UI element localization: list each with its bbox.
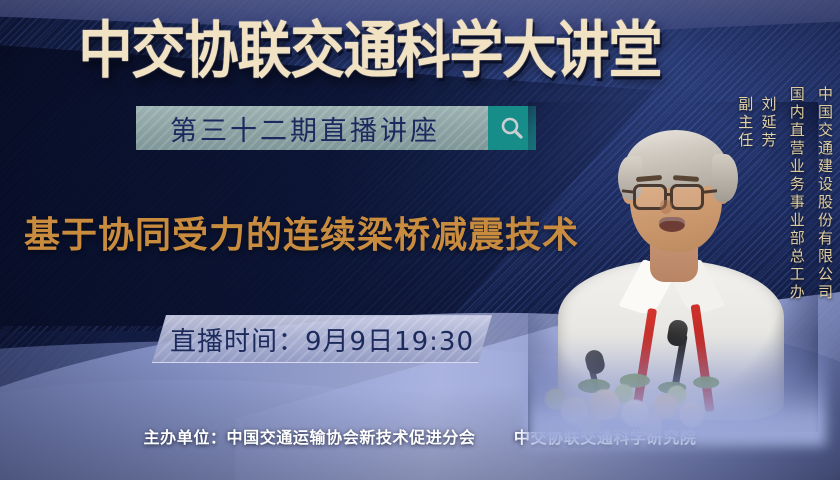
photo-bottom-fade (526, 336, 826, 446)
speaker-department: 国内直营业务事业部总工办 (785, 86, 808, 302)
live-stream-poster: 中交协联交通科学大讲堂 第三十二期直播讲座 基于协同受力的连续梁桥减震技术 直播… (0, 0, 840, 480)
search-icon (499, 115, 525, 141)
speaker-title: 副主任 (736, 96, 754, 150)
speaker-glasses-bridge (667, 193, 672, 196)
speaker-name-block: 刘延芳 副主任 (733, 96, 780, 150)
speaker-name: 刘延芳 (760, 96, 778, 150)
episode-band: 第三十二期直播讲座 (136, 106, 536, 150)
search-icon-button[interactable] (488, 106, 536, 150)
broadcast-time-text: 直播时间：9月9日19:30 (170, 321, 474, 358)
organizer-text: 主办单位：中国交通运输协会新技术促进分会 (144, 428, 476, 447)
lecture-topic-title: 基于协同受力的连续梁桥减震技术 (24, 206, 579, 258)
broadcast-time-banner: 直播时间：9月9日19:30 (152, 315, 492, 363)
speaker-nose (660, 200, 672, 214)
speaker-credits: 刘延芳 副主任 国内直营业务事业部总工办 中国交通建设股份有限公司 (728, 86, 836, 302)
speaker-mouth (659, 217, 685, 232)
poster-main-title: 中交协联交通科学大讲堂 (0, 18, 740, 84)
speaker-glasses-lens-right (670, 184, 704, 210)
episode-label: 第三十二期直播讲座 (170, 109, 440, 148)
speaker-company: 中国交通建设股份有限公司 (813, 86, 836, 302)
